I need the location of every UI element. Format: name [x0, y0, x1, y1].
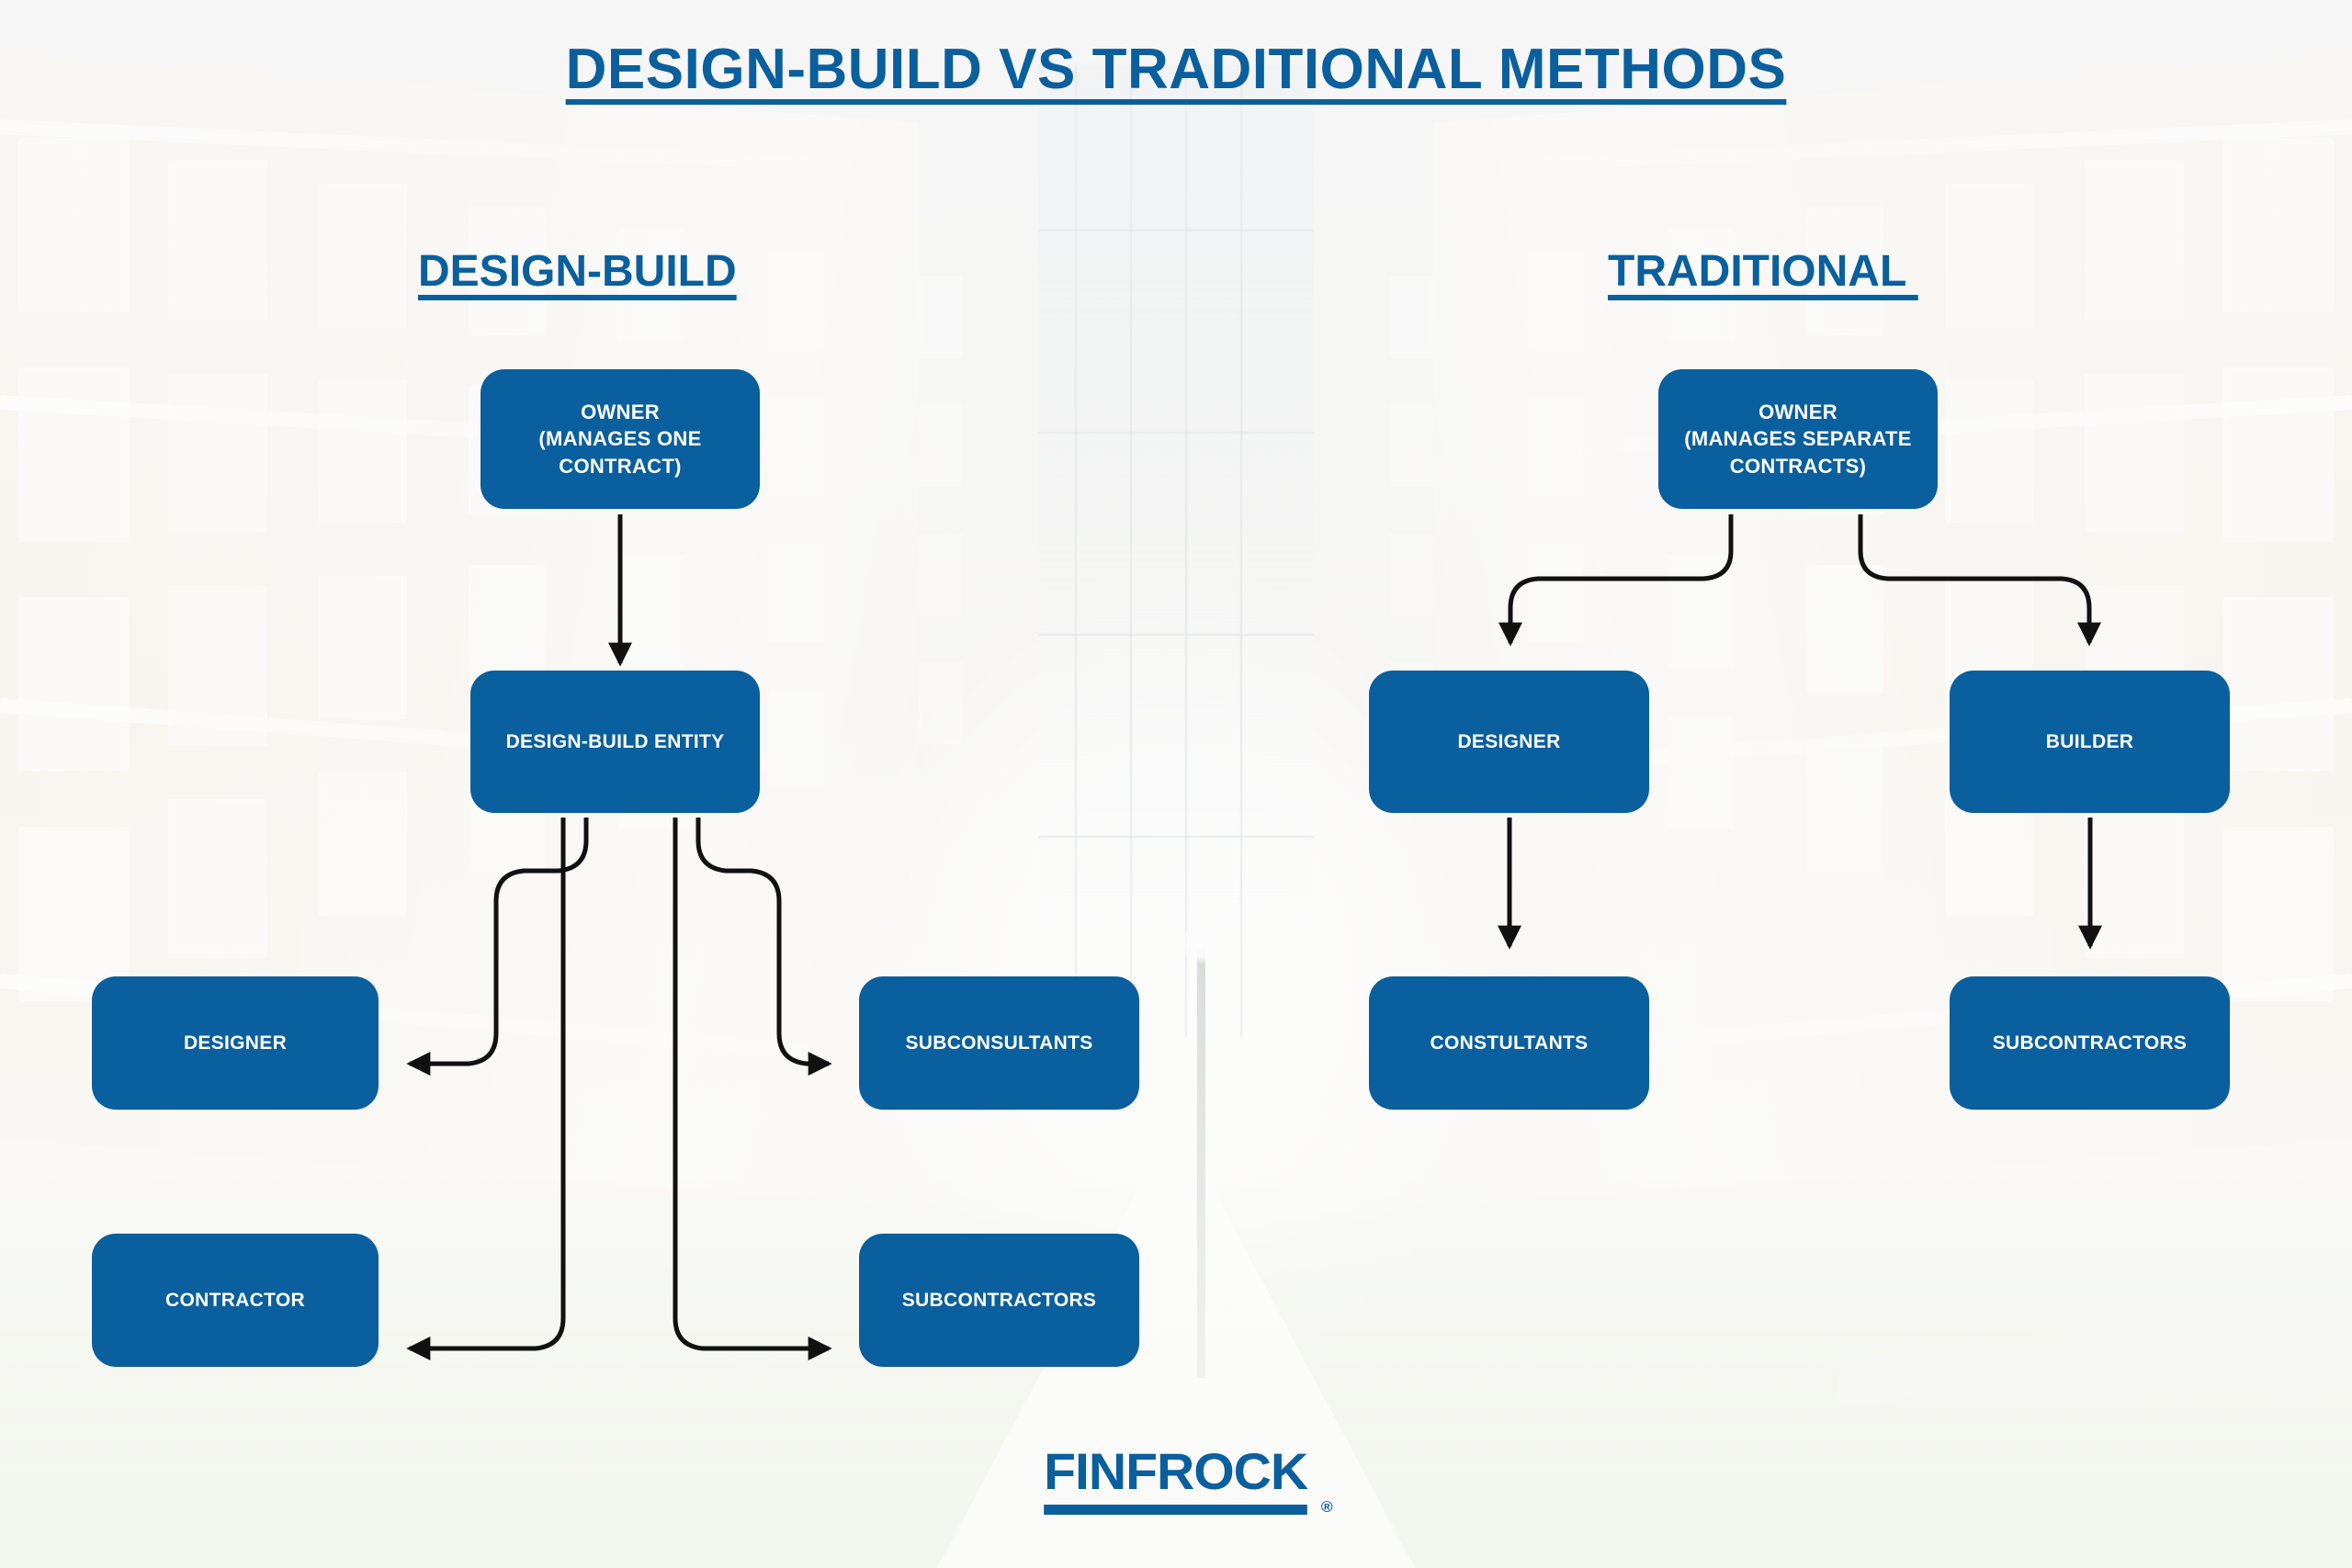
node-designer-db-label: DESIGNER: [184, 1031, 287, 1056]
node-owner-db-line1: OWNER: [538, 399, 701, 425]
node-consultants-traditional[interactable]: CONSTULTANTS: [1369, 976, 1649, 1110]
edge-owner-to-designer: [1510, 514, 1731, 643]
finfrock-logo: FINFROCK ®: [0, 1441, 2352, 1515]
node-subcontractors-db-label: SUBCONTRACTORS: [902, 1288, 1096, 1314]
column-heading-traditional: TRADITIONAL: [1608, 246, 1918, 297]
infographic-canvas: DESIGN-BUILD VS TRADITIONAL METHODS DESI…: [0, 0, 2352, 1568]
node-subcontractors-design-build[interactable]: SUBCONTRACTORS: [859, 1234, 1139, 1367]
node-design-build-entity[interactable]: DESIGN-BUILD ENTITY: [470, 671, 760, 813]
node-contractor-design-build[interactable]: CONTRACTOR: [92, 1234, 379, 1367]
edge-entity-to-subcontractors: [675, 818, 829, 1348]
finfrock-underline-bar: [1045, 1505, 1308, 1515]
node-contractor-db-label: CONTRACTOR: [165, 1288, 305, 1314]
node-builder-label: BUILDER: [2046, 729, 2133, 755]
finfrock-wordmark-text: FINFROCK: [1045, 1442, 1308, 1500]
node-subcontractors-tr-label: SUBCONTRACTORS: [1993, 1031, 2187, 1056]
edge-entity-to-subconsultants: [698, 818, 829, 1064]
edge-entity-to-contractor: [410, 818, 563, 1348]
node-owner-tr-line3: CONTRACTS): [1684, 453, 1912, 479]
edge-entity-to-designer: [410, 818, 586, 1064]
column-heading-design-build: DESIGN-BUILD: [418, 246, 737, 297]
node-owner-tr-line2: (MANAGES SEPARATE: [1684, 425, 1912, 452]
node-designer-design-build[interactable]: DESIGNER: [92, 976, 379, 1110]
page-title: DESIGN-BUILD VS TRADITIONAL METHODS: [0, 37, 2352, 102]
node-design-build-entity-label: DESIGN-BUILD ENTITY: [506, 729, 725, 755]
node-subconsultants-label: SUBCONSULTANTS: [905, 1031, 1092, 1056]
node-owner-traditional[interactable]: OWNER (MANAGES SEPARATE CONTRACTS): [1658, 369, 1938, 509]
node-owner-db-line3: CONTRACT): [538, 453, 701, 479]
registered-trademark-icon: ®: [1321, 1498, 1332, 1517]
node-owner-db-line2: (MANAGES ONE: [538, 425, 701, 452]
node-owner-tr-line1: OWNER: [1684, 399, 1912, 425]
finfrock-wordmark: FINFROCK ®: [1045, 1441, 1308, 1515]
node-designer-traditional[interactable]: DESIGNER: [1369, 671, 1649, 813]
edge-owner-to-builder: [1860, 514, 2089, 643]
node-subcontractors-traditional[interactable]: SUBCONTRACTORS: [1950, 976, 2230, 1110]
node-builder-traditional[interactable]: BUILDER: [1950, 671, 2230, 813]
node-subconsultants-design-build[interactable]: SUBCONSULTANTS: [859, 976, 1139, 1110]
node-owner-design-build[interactable]: OWNER (MANAGES ONE CONTRACT): [481, 369, 760, 509]
node-consultants-label: CONSTULTANTS: [1430, 1031, 1589, 1056]
node-designer-tr-label: DESIGNER: [1457, 729, 1560, 755]
